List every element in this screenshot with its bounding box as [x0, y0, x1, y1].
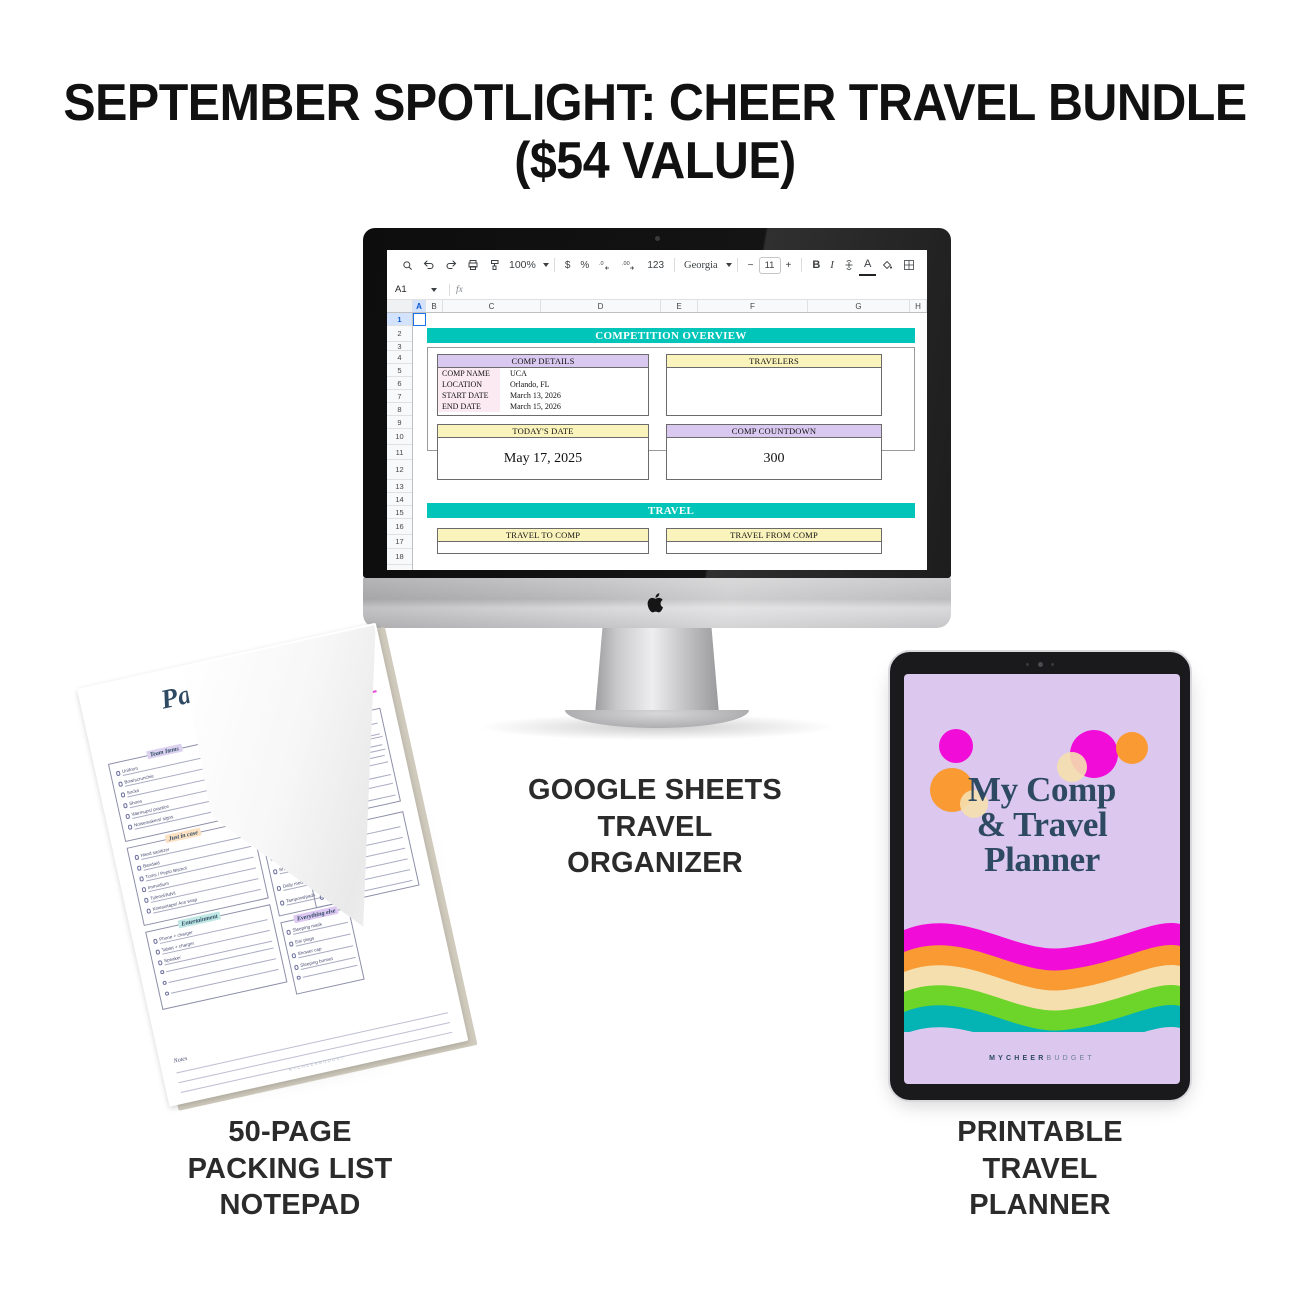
caption-ipad: PRINTABLE TRAVEL PLANNER [855, 1114, 1225, 1224]
undo-icon[interactable] [418, 254, 440, 276]
decrease-decimal-icon[interactable]: .0 [594, 254, 617, 276]
increase-decimal-icon[interactable]: .00 [617, 254, 642, 276]
toolbar-divider [554, 258, 555, 272]
row-header-18[interactable]: 18 [387, 549, 412, 565]
row-header-13[interactable]: 13 [387, 480, 412, 493]
name-box-chevron-down-icon[interactable] [431, 288, 437, 292]
column-header-d[interactable]: D [541, 300, 661, 312]
imac-camera-icon [655, 236, 660, 241]
checkbox-icon[interactable] [121, 792, 126, 797]
checkbox-icon[interactable] [128, 825, 133, 830]
name-box[interactable]: A1 [387, 284, 443, 295]
select-all-corner[interactable] [387, 300, 413, 312]
checkbox-icon[interactable] [134, 855, 139, 860]
packing-list-notepad-mockup: Packing List Team Items Uniform Bow/scru… [96, 636, 496, 1126]
caption-line: PLANNER [855, 1187, 1225, 1224]
comp-name-value[interactable]: UCA [500, 369, 527, 378]
comp-details-row: START DATE March 13, 2026 [438, 390, 648, 401]
caption-line: PRINTABLE [855, 1114, 1225, 1151]
italic-button[interactable]: I [825, 254, 839, 276]
row-header-1[interactable]: 1 [387, 313, 412, 326]
todays-date-title: TODAY'S DATE [438, 425, 648, 438]
imac-stand-neck [595, 628, 719, 714]
imac-chin [363, 578, 951, 628]
bold-button[interactable]: B [807, 254, 825, 276]
comp-countdown-title: COMP COUNTDOWN [667, 425, 881, 438]
toolbar-divider [801, 258, 802, 272]
row-headers: 1 2 3 4 5 6 7 8 9 10 11 12 13 [387, 313, 413, 570]
currency-format-icon[interactable]: $ [560, 254, 576, 276]
travelers-panel: TRAVELERS [666, 354, 882, 416]
row-header-11[interactable]: 11 [387, 445, 412, 460]
row-header-17[interactable]: 17 [387, 535, 412, 549]
toolbar-divider [737, 258, 738, 272]
cover-title-line-1: My Comp [904, 772, 1180, 807]
row-header-10[interactable]: 10 [387, 429, 412, 445]
column-header-e[interactable]: E [661, 300, 698, 312]
cover-title-line-3: Planner [904, 842, 1180, 877]
checkbox-icon[interactable] [165, 991, 170, 996]
cover-title-line-2: & Travel [904, 807, 1180, 842]
checkbox-icon[interactable] [296, 975, 301, 980]
todays-date-value[interactable]: May 17, 2025 [438, 451, 648, 467]
column-header-b[interactable]: B [426, 300, 443, 312]
borders-icon[interactable] [898, 254, 920, 276]
notepad: Packing List Team Items Uniform Bow/scru… [77, 621, 475, 1110]
checkbox-icon[interactable] [280, 901, 285, 906]
sheets-toolbar[interactable]: 100% $ % .0 .00 [387, 250, 927, 280]
headline-line-1: SEPTEMBER SPOTLIGHT: CHEER TRAVEL BUNDLE [63, 74, 1246, 132]
travelers-value[interactable] [667, 368, 881, 416]
row-header-14[interactable]: 14 [387, 493, 412, 506]
column-headers: A B C D E F G H [387, 300, 927, 313]
decorative-dot-orange [1116, 732, 1148, 764]
comp-details-panel: COMP DETAILS COMP NAME UCA LOCATION Orla… [437, 354, 649, 416]
end-date-value[interactable]: March 15, 2026 [500, 402, 561, 411]
column-header-h[interactable]: H [910, 300, 927, 312]
sheet-canvas[interactable]: COMPETITION OVERVIEW COMP DETAILS COMP N… [413, 313, 927, 570]
svg-text:.00: .00 [622, 261, 630, 267]
checkbox-icon[interactable] [158, 960, 163, 965]
formula-bar[interactable]: A1 fx [387, 280, 927, 300]
checkbox-icon[interactable] [153, 939, 158, 944]
decorative-dot-magenta [939, 729, 973, 763]
selected-cell-a1[interactable] [413, 313, 426, 326]
row-header-5[interactable]: 5 [387, 364, 412, 377]
planner-cover-title: My Comp & Travel Planner [904, 772, 1180, 877]
travel-from-comp-title: TRAVEL FROM COMP [667, 529, 881, 542]
toolbar-divider [674, 258, 675, 272]
checkbox-icon[interactable] [286, 930, 291, 935]
checkbox-icon[interactable] [116, 771, 121, 776]
checkbox-icon[interactable] [162, 980, 167, 985]
text-color-button[interactable]: A [859, 254, 876, 276]
zoom-chevron-down-icon[interactable] [543, 263, 549, 267]
page-title: SEPTEMBER SPOTLIGHT: CHEER TRAVEL BUNDLE… [46, 74, 1264, 190]
planner-cover-screen: My Comp & Travel Planner MYCHEERBUDGET [904, 674, 1180, 1084]
caption-line: GOOGLE SHEETS [470, 772, 840, 809]
checkbox-icon[interactable] [123, 803, 128, 808]
zoom-level[interactable]: 100% [506, 254, 539, 276]
checkbox-icon[interactable] [291, 953, 296, 958]
column-header-a[interactable]: A [413, 300, 426, 312]
column-header-c[interactable]: C [443, 300, 541, 312]
section-header-travel: TRAVEL [427, 503, 915, 518]
font-family-select[interactable]: Georgia [680, 254, 722, 276]
checkbox-icon[interactable] [137, 866, 142, 871]
row-header-16[interactable]: 16 [387, 519, 412, 535]
row-header-12[interactable]: 12 [387, 460, 412, 480]
more-formats-icon[interactable]: 123 [642, 254, 669, 276]
rainbow-waves-graphic [904, 912, 1180, 1032]
apple-logo-icon [647, 591, 667, 615]
caption-line: 50-PAGE [105, 1114, 475, 1151]
travelers-title: TRAVELERS [667, 355, 881, 368]
comp-details-row: END DATE March 15, 2026 [438, 401, 648, 412]
checkbox-icon[interactable] [160, 970, 165, 975]
checkbox-icon[interactable] [139, 876, 144, 881]
checkbox-icon[interactable] [142, 887, 147, 892]
caption-google-sheets: GOOGLE SHEETS TRAVEL ORGANIZER [470, 772, 840, 882]
ipad-frame: My Comp & Travel Planner MYCHEERBUDGET [888, 650, 1192, 1102]
checkbox-icon[interactable] [277, 886, 282, 891]
checkbox-icon[interactable] [125, 814, 130, 819]
caption-line: TRAVEL [855, 1151, 1225, 1188]
checkbox-icon[interactable] [146, 909, 151, 914]
percent-format-icon[interactable]: % [575, 254, 594, 276]
search-icon[interactable] [397, 254, 418, 276]
caption-notepad: 50-PAGE PACKING LIST NOTEPAD [105, 1114, 475, 1224]
comp-details-title: COMP DETAILS [438, 355, 648, 368]
brand-light-part: BUDGET [1047, 1055, 1095, 1062]
checkbox-icon[interactable] [273, 869, 278, 874]
decrease-font-size-button[interactable]: − [743, 254, 759, 276]
brand-bold-part: MYCHEER [989, 1055, 1046, 1062]
row-header-3[interactable]: 3 [387, 342, 412, 351]
poster-canvas: SEPTEMBER SPOTLIGHT: CHEER TRAVEL BUNDLE… [0, 0, 1310, 1312]
ipad-mockup: My Comp & Travel Planner MYCHEERBUDGET [880, 650, 1200, 1112]
font-size-input[interactable]: 11 [759, 257, 781, 274]
start-date-value[interactable]: March 13, 2026 [500, 391, 561, 400]
formula-divider [449, 284, 450, 296]
comp-name-label: COMP NAME [438, 368, 500, 379]
checkbox-icon[interactable] [118, 782, 123, 787]
column-header-f[interactable]: F [698, 300, 808, 312]
location-value[interactable]: Orlando, FL [500, 380, 550, 389]
row-header-15[interactable]: 15 [387, 506, 412, 519]
font-chevron-down-icon[interactable] [726, 263, 732, 267]
checkbox-icon[interactable] [144, 898, 149, 903]
row-header-9[interactable]: 9 [387, 416, 412, 429]
sheet-grid[interactable]: A B C D E F G H 1 2 3 4 [387, 300, 927, 570]
location-label: LOCATION [438, 379, 500, 390]
caption-line: NOTEPAD [105, 1187, 475, 1224]
notes-label: Notes [173, 1056, 188, 1065]
google-sheets-screen: 100% $ % .0 .00 [387, 250, 927, 570]
end-date-label: END DATE [438, 401, 500, 412]
headline-line-2: ($54 VALUE) [46, 132, 1264, 190]
paint-format-icon[interactable] [484, 254, 506, 276]
comp-details-row: COMP NAME UCA [438, 368, 648, 379]
section-header-competition-overview: COMPETITION OVERVIEW [427, 328, 915, 343]
grid-body: 1 2 3 4 5 6 7 8 9 10 11 12 13 [387, 313, 927, 570]
comp-countdown-value[interactable]: 300 [667, 451, 881, 467]
fill-color-icon[interactable] [876, 254, 898, 276]
imac-bezel: 100% $ % .0 .00 [363, 228, 951, 578]
travel-to-comp-panel: TRAVEL TO COMP [437, 528, 649, 554]
strikethrough-button[interactable] [839, 254, 859, 276]
travel-from-comp-panel: TRAVEL FROM COMP [666, 528, 882, 554]
todays-date-panel: TODAY'S DATE May 17, 2025 [437, 424, 649, 480]
row-header-4[interactable]: 4 [387, 351, 412, 364]
name-box-value: A1 [395, 284, 407, 295]
increase-font-size-button[interactable]: + [781, 254, 797, 276]
column-header-g[interactable]: G [808, 300, 910, 312]
svg-text:.0: .0 [599, 261, 604, 267]
formula-fx-icon: fx [456, 285, 463, 295]
row-header-2[interactable]: 2 [387, 326, 412, 342]
caption-line: TRAVEL [470, 809, 840, 846]
row-header-6[interactable]: 6 [387, 377, 412, 390]
row-header-8[interactable]: 8 [387, 403, 412, 416]
redo-icon[interactable] [440, 254, 462, 276]
checkbox-icon[interactable] [294, 965, 299, 970]
print-icon[interactable] [462, 254, 484, 276]
ipad-camera-icon [1026, 662, 1054, 667]
travel-to-comp-title: TRAVEL TO COMP [438, 529, 648, 542]
comp-details-row: LOCATION Orlando, FL [438, 379, 648, 390]
start-date-label: START DATE [438, 390, 500, 401]
caption-line: PACKING LIST [105, 1151, 475, 1188]
comp-countdown-panel: COMP COUNTDOWN 300 [666, 424, 882, 480]
caption-line: ORGANIZER [470, 845, 840, 882]
planner-cover-brand: MYCHEERBUDGET [904, 1055, 1180, 1062]
checkbox-icon[interactable] [289, 942, 294, 947]
row-header-7[interactable]: 7 [387, 390, 412, 403]
checkbox-icon[interactable] [155, 950, 160, 955]
